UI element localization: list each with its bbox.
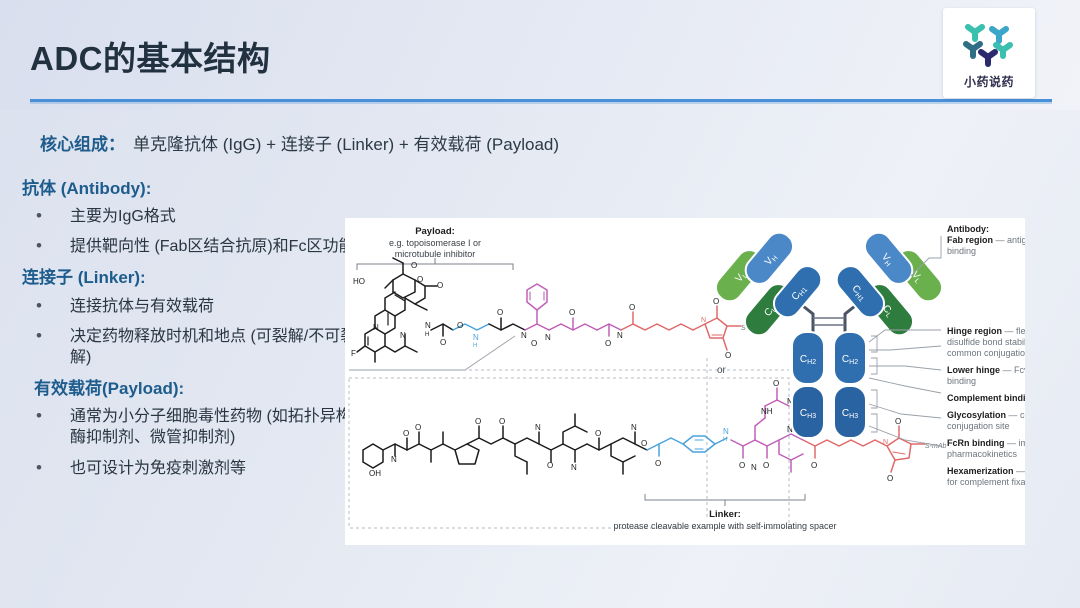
atom-label-O: O <box>440 338 446 347</box>
atom-label-N: N <box>400 331 406 340</box>
logo-molecule-icon <box>959 19 1019 74</box>
annotation-hexamerization-line2: for complement fixation <box>947 477 1025 487</box>
atom-label-O: O <box>595 429 601 438</box>
atom-label-O: O <box>773 379 779 388</box>
atom-label-N: N <box>545 333 551 342</box>
atom-label-N: N <box>883 439 888 446</box>
atom-label-O: O <box>547 461 553 470</box>
logo-text: 小药说药 <box>964 76 1014 88</box>
atom-label-O: O <box>499 417 505 426</box>
atom-label-NH: NH <box>761 407 773 416</box>
atom-label-O: O <box>403 429 409 438</box>
or-label: or <box>717 365 727 376</box>
annotation-fcrn-line2: pharmacokinetics <box>947 449 1018 459</box>
svg-text:H: H <box>723 437 727 443</box>
atom-label-N: N <box>751 463 757 472</box>
domain-CH2-right <box>834 332 866 384</box>
list-item: 连接抗体与有效载荷 <box>18 296 358 317</box>
atom-label-NH: N <box>723 427 729 436</box>
adc-structure-figure: Payload: e.g. topoisomerase I or microtu… <box>345 218 1025 545</box>
atom-label-N: N <box>391 455 397 464</box>
brand-logo: 小药说药 <box>943 8 1035 98</box>
annotation-lower-hinge: Lower hinge — Fcγ receptor <box>947 365 1025 375</box>
atom-label-NH: N <box>473 333 479 342</box>
atom-label-O: O <box>641 439 647 448</box>
atom-label-N: N <box>617 331 623 340</box>
bullet-list-antibody: 主要为IgG格式 提供靶向性 (Fab区结合抗原)和Fc区功能 <box>18 206 358 257</box>
linker-caption-title: Linker: <box>709 509 741 520</box>
atom-label-O: O <box>497 308 503 317</box>
adc-diagram: Payload: e.g. topoisomerase I or microtu… <box>345 218 1025 545</box>
atom-label-O: O <box>763 461 769 470</box>
atom-label-N: N <box>521 331 527 340</box>
domain-CH3-right <box>834 386 866 438</box>
core-composition-line: 核心组成：单克隆抗体 (IgG) + 连接子 (Linker) + 有效载荷 (… <box>40 130 559 155</box>
bullet-list-linker: 连接抗体与有效载荷 决定药物释放时机和地点 (可裂解/不可裂解) <box>18 296 358 368</box>
slide-header: ADC的基本结构 <box>0 0 1080 110</box>
atom-label-F: F <box>351 349 356 358</box>
atom-label-O: O <box>415 423 421 432</box>
annotation-fcrn-binding: FcRn binding — impacts <box>947 438 1025 448</box>
payload-caption-line1: e.g. topoisomerase I or <box>389 238 481 248</box>
atom-label-O: O <box>437 281 443 290</box>
svg-text:H: H <box>425 332 429 338</box>
content-column: 抗体 (Antibody): 主要为IgG格式 提供靶向性 (Fab区结合抗原)… <box>18 178 358 489</box>
domain-CH3-left <box>792 386 824 438</box>
slide-root: ADC的基本结构 <box>0 0 1080 608</box>
atom-label-NH: N <box>425 321 431 330</box>
bullet-list-payload: 通常为小分子细胞毒性药物 (如拓扑异构酶抑制剂、微管抑制剂) 也可设计为免疫刺激… <box>18 406 358 478</box>
page-title: ADC的基本结构 <box>30 42 271 75</box>
atom-label-N: N <box>631 423 637 432</box>
atom-label-O: O <box>531 339 537 348</box>
atom-label-O: O <box>655 459 661 468</box>
atom-label-O: O <box>475 417 481 426</box>
atom-label-N: N <box>701 317 706 324</box>
list-item: 决定药物释放时机和地点 (可裂解/不可裂解) <box>18 326 358 368</box>
annotation-fab-region: Fab region — antigen <box>947 235 1025 245</box>
section-heading-linker: 连接子 (Linker): <box>22 267 358 288</box>
atom-label-OH: OH <box>369 469 381 478</box>
atom-label-HO: HO <box>353 277 365 286</box>
annotation-hexamerization: Hexamerization — important <box>947 466 1025 476</box>
annotation-hinge-line2: disulfide bond stabilized, <box>947 337 1025 347</box>
atom-label-O: O <box>887 474 893 483</box>
payload-caption-title: Payload: <box>415 226 455 237</box>
list-item: 也可设计为免疫刺激剂等 <box>18 458 358 479</box>
annotation-antibody-title: Antibody: <box>947 224 989 234</box>
title-divider-shadow <box>30 102 1052 104</box>
atom-label-O: O <box>417 275 423 284</box>
section-heading-payload: 有效载荷(Payload): <box>34 378 358 399</box>
payload-caption-line2: microtubule inhibitor <box>395 249 476 259</box>
atom-label-O: O <box>811 461 817 470</box>
atom-label-O: O <box>713 297 719 306</box>
annotation-glycosylation: Glycosylation — common <box>947 410 1025 420</box>
atom-label-O: O <box>629 303 635 312</box>
list-item: 提供靶向性 (Fab区结合抗原)和Fc区功能 <box>18 236 358 257</box>
annotation-complement-binding: Complement binding <box>947 393 1025 403</box>
annotation-glycosylation-line2: conjugation site <box>947 421 1010 431</box>
annotation-hinge-line3: common conjugation site <box>947 348 1025 358</box>
atom-label-O: O <box>895 417 901 426</box>
atom-label-N: N <box>535 423 541 432</box>
annotation-lower-hinge-line2: binding <box>947 376 976 386</box>
section-heading-antibody: 抗体 (Antibody): <box>22 178 358 199</box>
atom-label-N: N <box>373 323 379 332</box>
atom-label-O: O <box>569 308 575 317</box>
annotation-hinge-region: Hinge region — flexible, <box>947 326 1025 336</box>
atom-label-N: N <box>571 463 577 472</box>
atom-label-O: O <box>411 261 417 270</box>
atom-label-O: O <box>605 339 611 348</box>
svg-text:H: H <box>473 343 477 349</box>
core-composition-lead: 核心组成： <box>40 135 125 154</box>
list-item: 主要为IgG格式 <box>18 206 358 227</box>
annotation-fab-region-line2: binding <box>947 246 976 256</box>
atom-label-O: O <box>457 321 463 330</box>
linker-caption-line1: protease cleavable example with self-imm… <box>613 521 836 531</box>
domain-CH2-left <box>792 332 824 384</box>
list-item: 通常为小分子细胞毒性药物 (如拓扑异构酶抑制剂、微管抑制剂) <box>18 406 358 448</box>
core-composition-text: 单克隆抗体 (IgG) + 连接子 (Linker) + 有效载荷 (Paylo… <box>133 135 559 154</box>
atom-label-O: O <box>725 351 731 360</box>
atom-label-O: O <box>739 461 745 470</box>
